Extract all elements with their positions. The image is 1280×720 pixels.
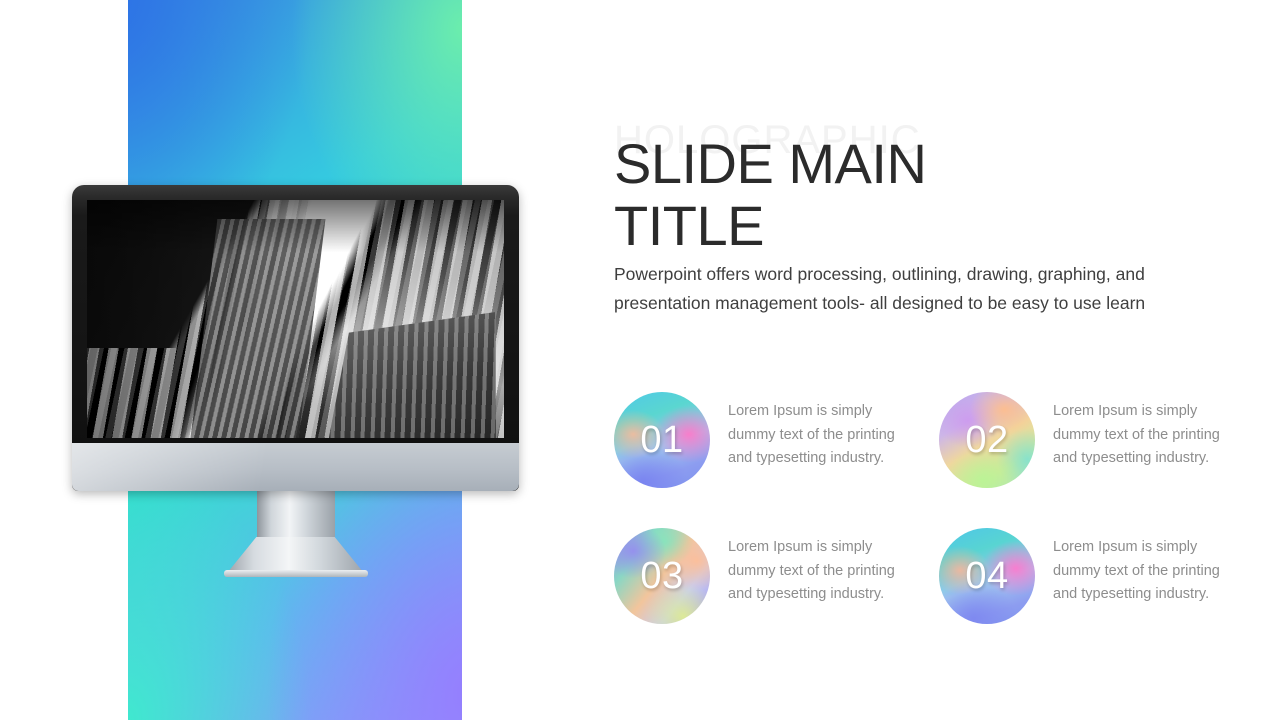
feature-number-02: 02: [965, 419, 1008, 462]
feature-item-03[interactable]: 03 Lorem Ipsum is simply dummy text of t…: [614, 528, 939, 664]
desktop-monitor-mockup: [72, 185, 519, 491]
presentation-slide: HOLOGRAPHIC SLIDE MAIN TITLE Powerpoint …: [0, 0, 1280, 720]
feature-badge-01: 01: [614, 392, 710, 488]
feature-item-02[interactable]: 02 Lorem Ipsum is simply dummy text of t…: [939, 392, 1264, 528]
feature-badge-03: 03: [614, 528, 710, 624]
feature-badge-02: 02: [939, 392, 1035, 488]
monitor-screen: [87, 200, 504, 438]
feature-number-03: 03: [640, 555, 683, 598]
feature-description-04: Lorem Ipsum is simply dummy text of the …: [1053, 528, 1243, 607]
feature-description-01: Lorem Ipsum is simply dummy text of the …: [728, 392, 918, 471]
slide-content-column: HOLOGRAPHIC SLIDE MAIN TITLE Powerpoint …: [614, 0, 1254, 720]
feature-grid: 01 Lorem Ipsum is simply dummy text of t…: [614, 392, 1262, 664]
monitor-bezel: [72, 185, 519, 491]
feature-number-04: 04: [965, 555, 1008, 598]
feature-item-04[interactable]: 04 Lorem Ipsum is simply dummy text of t…: [939, 528, 1264, 664]
page-title: SLIDE MAIN TITLE: [614, 133, 1034, 257]
feature-number-01: 01: [640, 419, 683, 462]
monitor-chin: [72, 443, 519, 491]
feature-badge-04: 04: [939, 528, 1035, 624]
feature-item-01[interactable]: 01 Lorem Ipsum is simply dummy text of t…: [614, 392, 939, 528]
photo-vignette-overlay: [87, 200, 504, 438]
monitor-stand-neck: [257, 491, 335, 543]
slide-subtitle: Powerpoint offers word processing, outli…: [614, 260, 1234, 318]
monitor-stand-base-edge: [224, 570, 368, 577]
feature-description-02: Lorem Ipsum is simply dummy text of the …: [1053, 392, 1243, 471]
feature-description-03: Lorem Ipsum is simply dummy text of the …: [728, 528, 918, 607]
